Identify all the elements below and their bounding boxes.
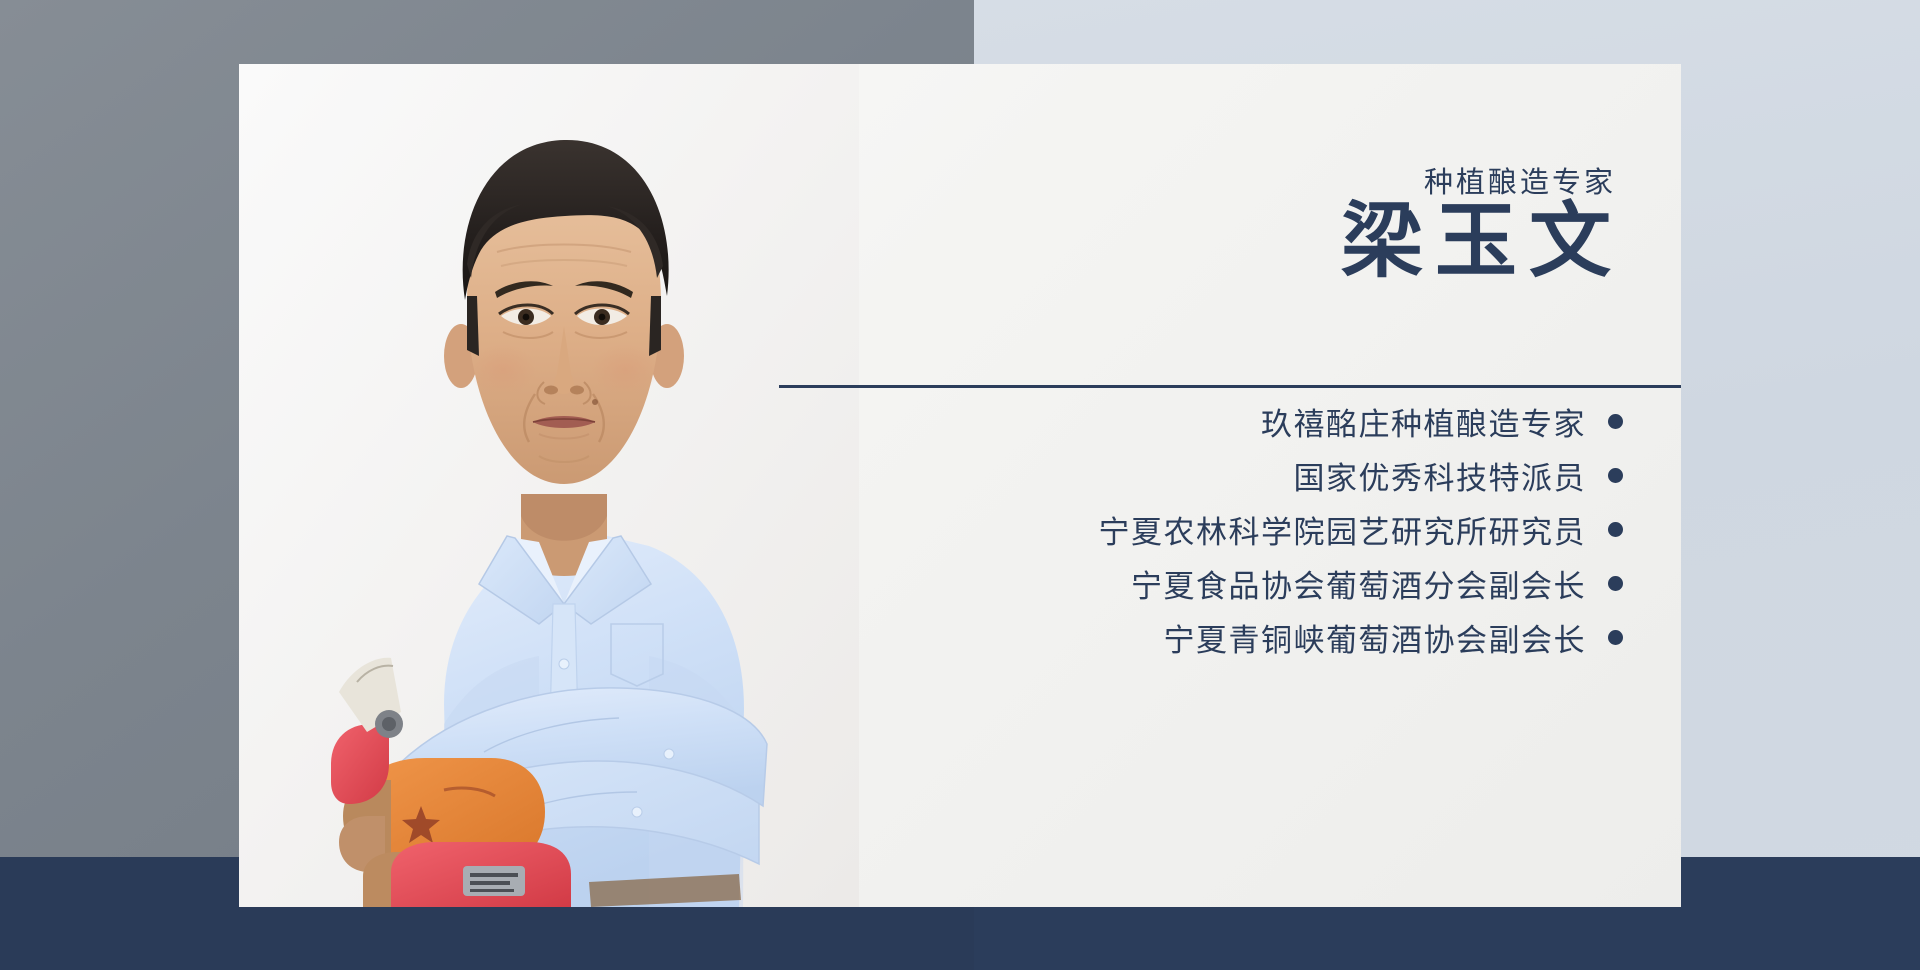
credential-text: 宁夏青铜峡葡萄酒协会副会长 (1164, 615, 1587, 660)
profile-name: 梁玉文 (1341, 199, 1623, 285)
bullet-dot-icon (1608, 630, 1623, 645)
list-item: 国家优秀科技特派员 (923, 448, 1623, 502)
credential-text: 宁夏农林科学院园艺研究所研究员 (1099, 507, 1587, 552)
bullet-dot-icon (1608, 576, 1623, 591)
list-item: 宁夏食品协会葡萄酒分会副会长 (923, 556, 1623, 610)
section-divider (779, 385, 1681, 388)
bullet-dot-icon (1608, 522, 1623, 537)
credentials-list: 玖禧酩庄种植酿造专家 国家优秀科技特派员 宁夏农林科学院园艺研究所研究员 宁夏食… (923, 394, 1623, 664)
list-item: 玖禧酩庄种植酿造专家 (923, 394, 1623, 448)
profile-eyebrow: 种植酿造专家 (1424, 159, 1616, 201)
portrait-photo (239, 64, 859, 907)
bullet-dot-icon (1608, 414, 1623, 429)
list-item: 宁夏青铜峡葡萄酒协会副会长 (923, 610, 1623, 664)
credential-text: 国家优秀科技特派员 (1294, 453, 1587, 498)
credential-text: 宁夏食品协会葡萄酒分会副会长 (1131, 561, 1586, 606)
list-item: 宁夏农林科学院园艺研究所研究员 (923, 502, 1623, 556)
profile-card: 种植酿造专家 梁玉文 玖禧酩庄种植酿造专家 国家优秀科技特派员 宁夏农林科学院园… (239, 64, 1681, 907)
bullet-dot-icon (1608, 468, 1623, 483)
credential-text: 玖禧酩庄种植酿造专家 (1261, 399, 1586, 444)
expert-profile-banner: 种植酿造专家 梁玉文 玖禧酩庄种植酿造专家 国家优秀科技特派员 宁夏农林科学院园… (0, 0, 1920, 970)
